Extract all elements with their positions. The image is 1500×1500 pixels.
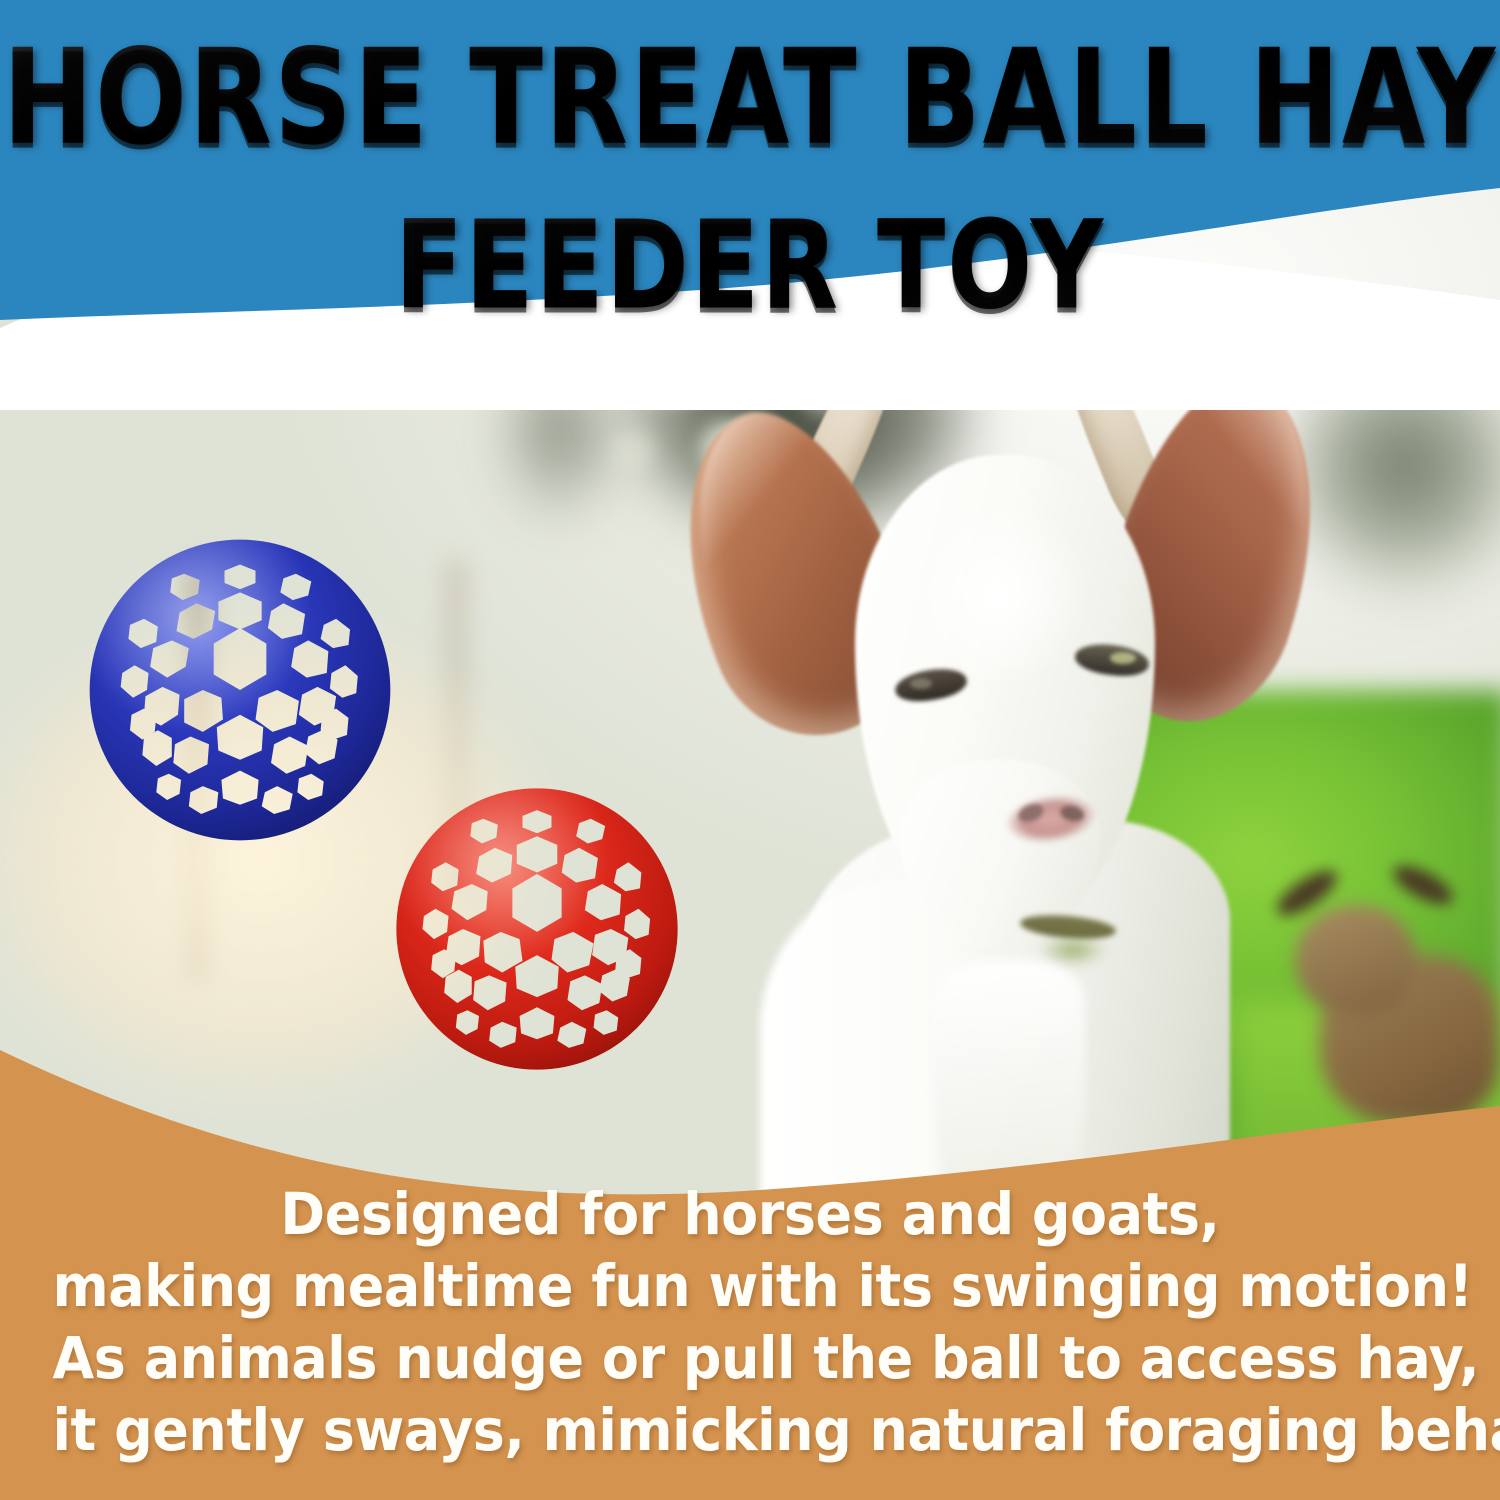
headline-line-2-text: FEEDER TOY [395,194,1105,337]
blue-hole-ball [85,535,395,845]
footer-line-3: As animals nudge or pull the ball to acc… [53,1322,1448,1394]
footer-description: Designed for horses and goats, making me… [0,1178,1500,1466]
footer-line-2: making mealtime fun with its swinging mo… [53,1250,1448,1322]
red-hole-ball [392,784,682,1074]
headline-line-2: FEEDER TOY [0,194,1500,337]
headline-block: HORSE TREAT BALL HAY FEEDER TOY [0,0,1500,320]
goat-eye-right-highlight [1110,652,1136,664]
product-marketing-poster: HORSE TREAT BALL HAY FEEDER TOY Designed… [0,0,1500,1500]
footer-line-4: it gently sways, mimicking natural forag… [53,1394,1448,1466]
footer-line-1: Designed for horses and goats, [53,1178,1448,1250]
headline-line-1-text: HORSE TREAT BALL HAY [3,22,1498,175]
headline-line-1: HORSE TREAT BALL HAY [0,22,1500,175]
goat-eye-left-highlight [910,678,932,689]
